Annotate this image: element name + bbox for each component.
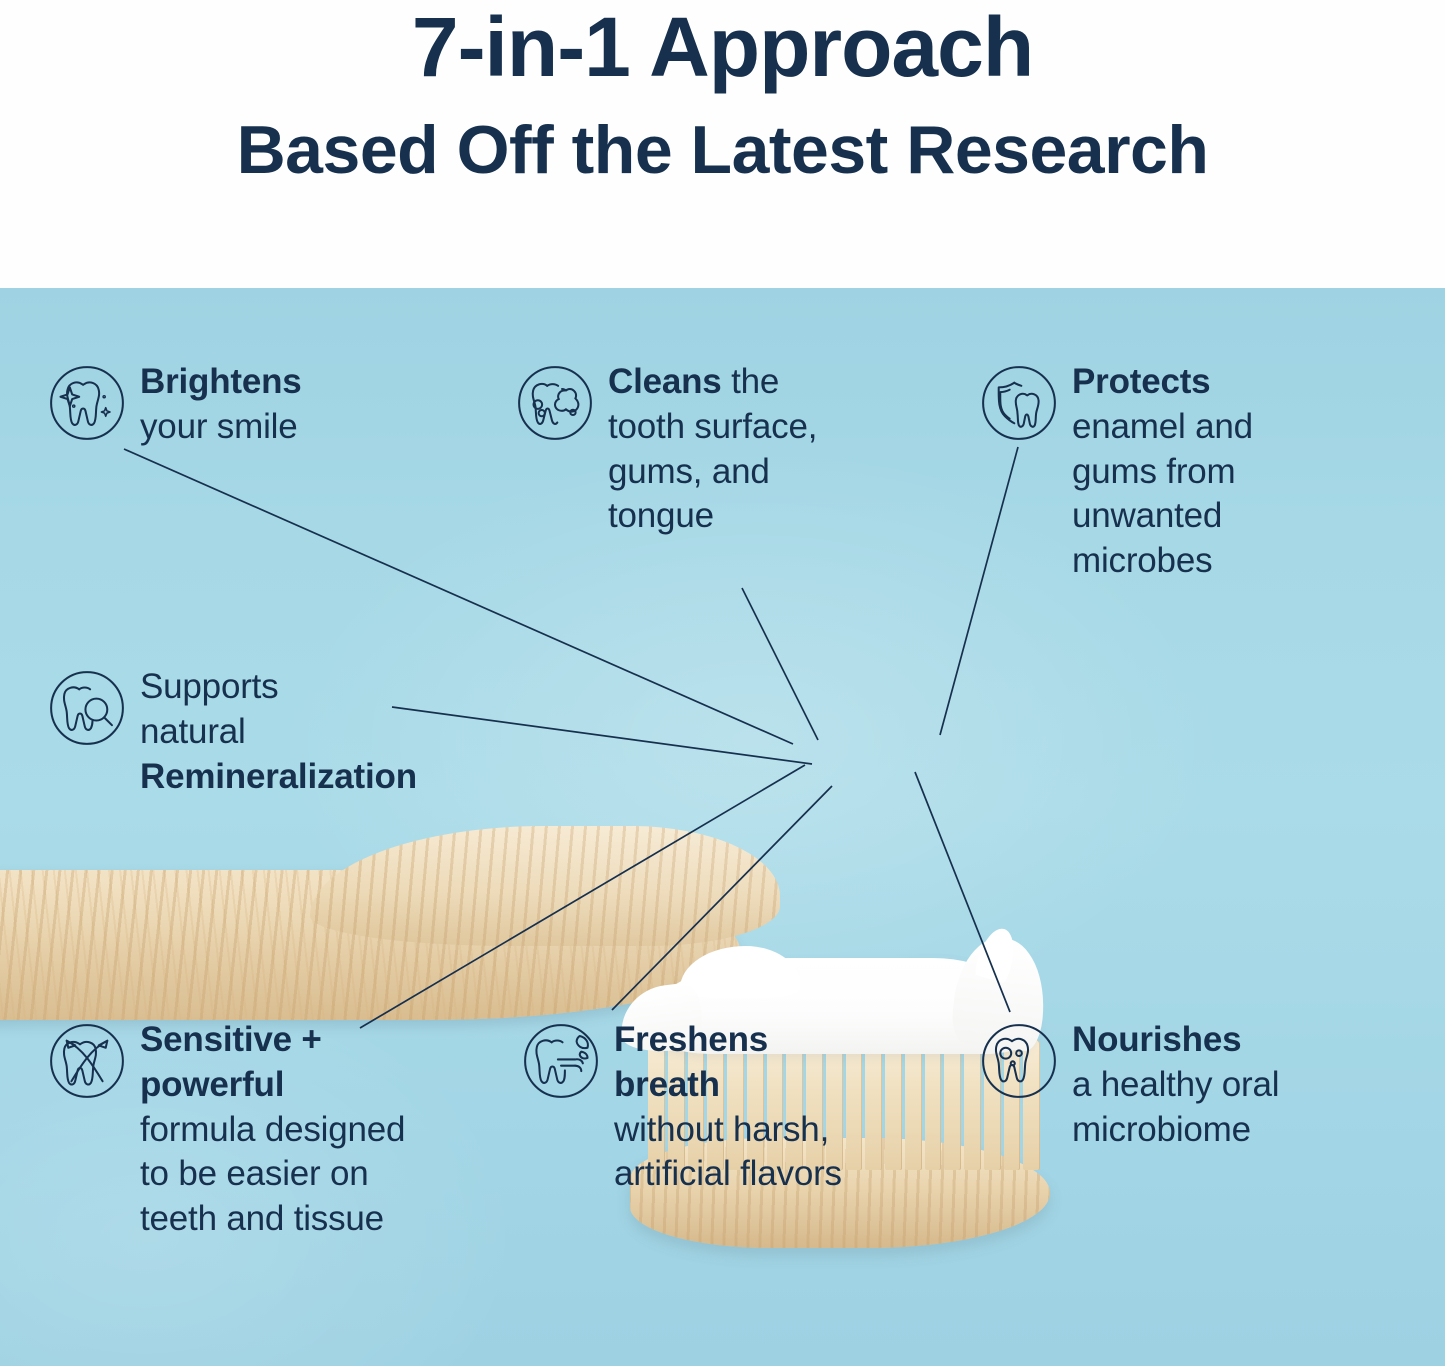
feature-freshens-l3: artificial flavors [614, 1154, 842, 1193]
feature-nourishes: Nourishes a healthy oral microbiome [980, 1018, 1410, 1152]
feature-sensitive-l2: formula designed [140, 1110, 405, 1149]
feature-sensitive-b1: powerful [140, 1065, 284, 1104]
feature-nourishes-l2: microbiome [1072, 1110, 1251, 1149]
feature-nourishes-text: Nourishes a healthy oral microbiome [1072, 1018, 1279, 1152]
feature-cleans-bold: Cleans [608, 362, 722, 401]
feature-freshens: Freshens breath without harsh, artificia… [522, 1018, 922, 1197]
feature-supports-l1: natural [140, 712, 246, 751]
tooth-microbes-icon [980, 1022, 1058, 1100]
feature-brightens-rest: your smile [140, 407, 297, 446]
feature-brightens-text: Brightens your smile [140, 360, 302, 450]
feature-protects-l3: unwanted [1072, 496, 1222, 535]
tooth-crossed-arrows-icon [48, 1022, 126, 1100]
feature-protects-l1: enamel and [1072, 407, 1253, 446]
feature-sensitive-l4: teeth and tissue [140, 1199, 384, 1238]
feature-supports: Supports natural Remineralization [48, 665, 568, 799]
feature-cleans-l1: tooth surface, [608, 407, 817, 446]
feature-freshens-text: Freshens breath without harsh, artificia… [614, 1018, 842, 1197]
feature-cleans-text: Cleans the tooth surface, gums, and tong… [608, 360, 817, 539]
feature-protects-bold: Protects [1072, 362, 1210, 401]
header-band: 7-in-1 Approach Based Off the Latest Res… [0, 0, 1445, 288]
tooth-sparkle-icon [48, 364, 126, 442]
brush-handle-curve [310, 826, 780, 946]
feature-sensitive: Sensitive + powerful formula designed to… [48, 1018, 568, 1242]
feature-freshens-b1: breath [614, 1065, 720, 1104]
page-title-secondary: Based Off the Latest Research [237, 113, 1209, 188]
feature-brightens: Brightens your smile [48, 360, 448, 450]
feature-supports-bold: Remineralization [140, 757, 417, 796]
feature-protects-l4: microbes [1072, 541, 1212, 580]
shield-tooth-icon [980, 364, 1058, 442]
feature-brightens-bold: Brightens [140, 362, 302, 401]
page-title-primary: 7-in-1 Approach [412, 2, 1033, 93]
feature-sensitive-b0: Sensitive + [140, 1020, 322, 1059]
infographic-page: 7-in-1 Approach Based Off the Latest Res… [0, 0, 1445, 1366]
tooth-bubbles-icon [516, 364, 594, 442]
tooth-mint-leaf-icon [522, 1022, 600, 1100]
feature-freshens-l2: without harsh, [614, 1110, 829, 1149]
tooth-magnifier-icon [48, 669, 126, 747]
feature-cleans: Cleans the tooth surface, gums, and tong… [516, 360, 876, 539]
feature-supports-text: Supports natural Remineralization [140, 665, 417, 799]
feature-nourishes-l1: a healthy oral [1072, 1065, 1279, 1104]
feature-protects: Protects enamel and gums from unwanted m… [980, 360, 1400, 584]
feature-cleans-l3: tongue [608, 496, 714, 535]
feature-protects-text: Protects enamel and gums from unwanted m… [1072, 360, 1253, 584]
feature-nourishes-bold: Nourishes [1072, 1020, 1241, 1059]
feature-supports-l0: Supports [140, 667, 279, 706]
feature-cleans-l0: the [722, 362, 780, 401]
feature-sensitive-l3: to be easier on [140, 1154, 369, 1193]
feature-sensitive-text: Sensitive + powerful formula designed to… [140, 1018, 405, 1242]
feature-protects-l2: gums from [1072, 452, 1236, 491]
feature-freshens-b0: Freshens [614, 1020, 768, 1059]
feature-cleans-l2: gums, and [608, 452, 770, 491]
